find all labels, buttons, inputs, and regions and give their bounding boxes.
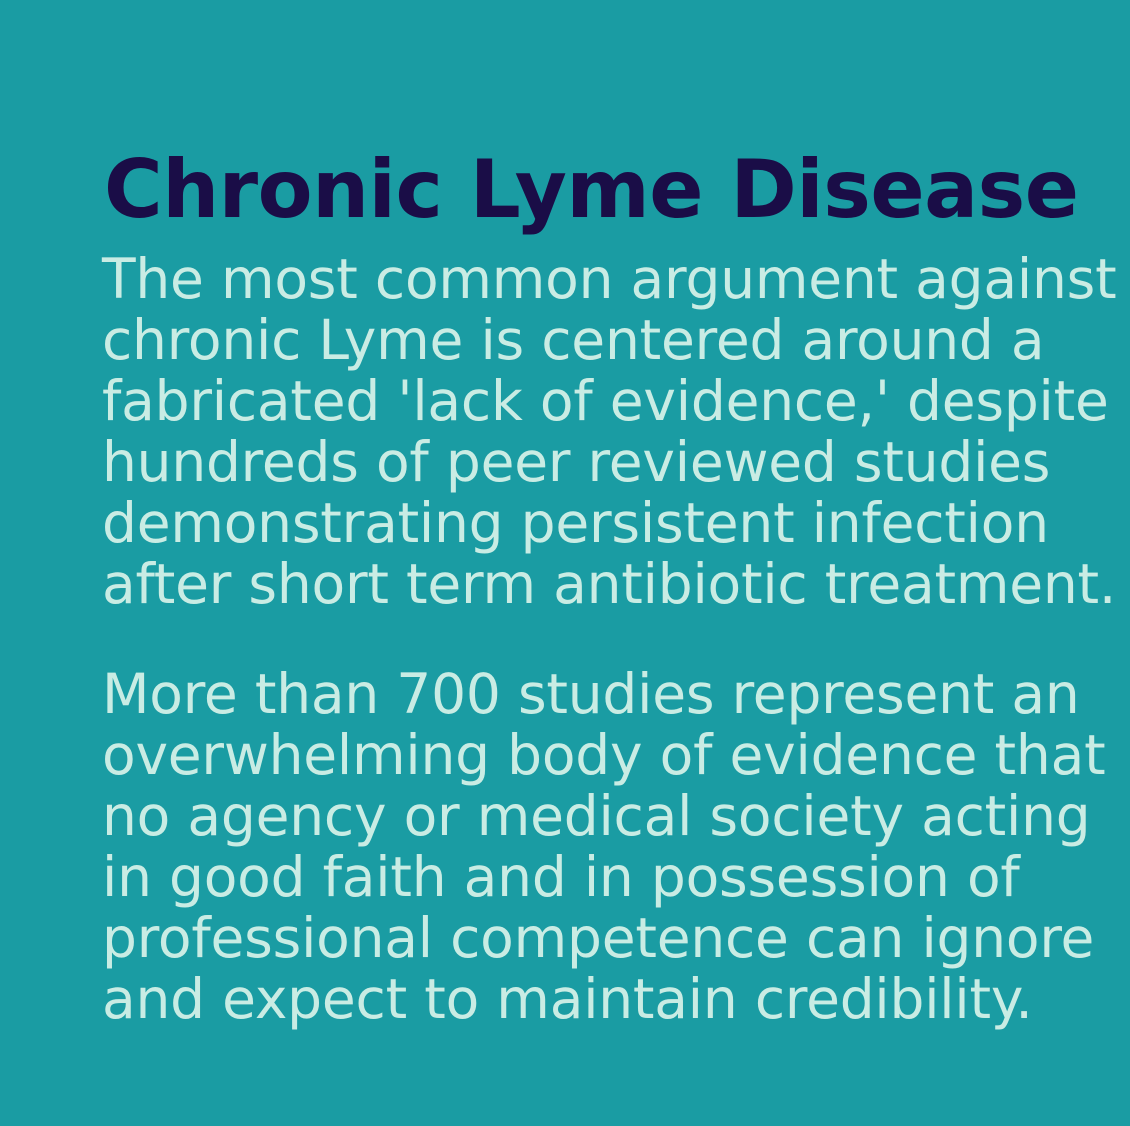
paragraph-1-line-2: chronic Lyme is centered around a: [102, 310, 1062, 371]
paragraph-2-line-4: in good faith and in possession of: [102, 847, 1062, 908]
infographic-card: Chronic Lyme Disease The most common arg…: [0, 0, 1130, 1126]
paragraph-1-line-6: after short term antibiotic treatment.: [102, 554, 1062, 615]
paragraph-1-line-5: demonstrating persistent infection: [102, 493, 1062, 554]
paragraph-2-line-2: overwhelming body of evidence that: [102, 725, 1062, 786]
page-title: Chronic Lyme Disease: [104, 150, 1034, 230]
paragraph-1-line-4: hundreds of peer reviewed studies: [102, 432, 1062, 493]
paragraph-2: More than 700 studies represent an overw…: [102, 664, 1062, 1030]
paragraph-1: The most common argument against chronic…: [102, 249, 1062, 615]
paragraph-2-line-5: professional competence can ignore: [102, 908, 1062, 969]
body-text-block: The most common argument against chronic…: [102, 249, 1062, 1030]
paragraph-1-line-3: fabricated 'lack of evidence,' despite: [102, 371, 1062, 432]
paragraph-2-line-6: and expect to maintain credibility.: [102, 969, 1062, 1030]
paragraph-2-line-1: More than 700 studies represent an: [102, 664, 1062, 725]
paragraph-2-line-3: no agency or medical society acting: [102, 786, 1062, 847]
paragraph-1-line-1: The most common argument against: [102, 249, 1062, 310]
